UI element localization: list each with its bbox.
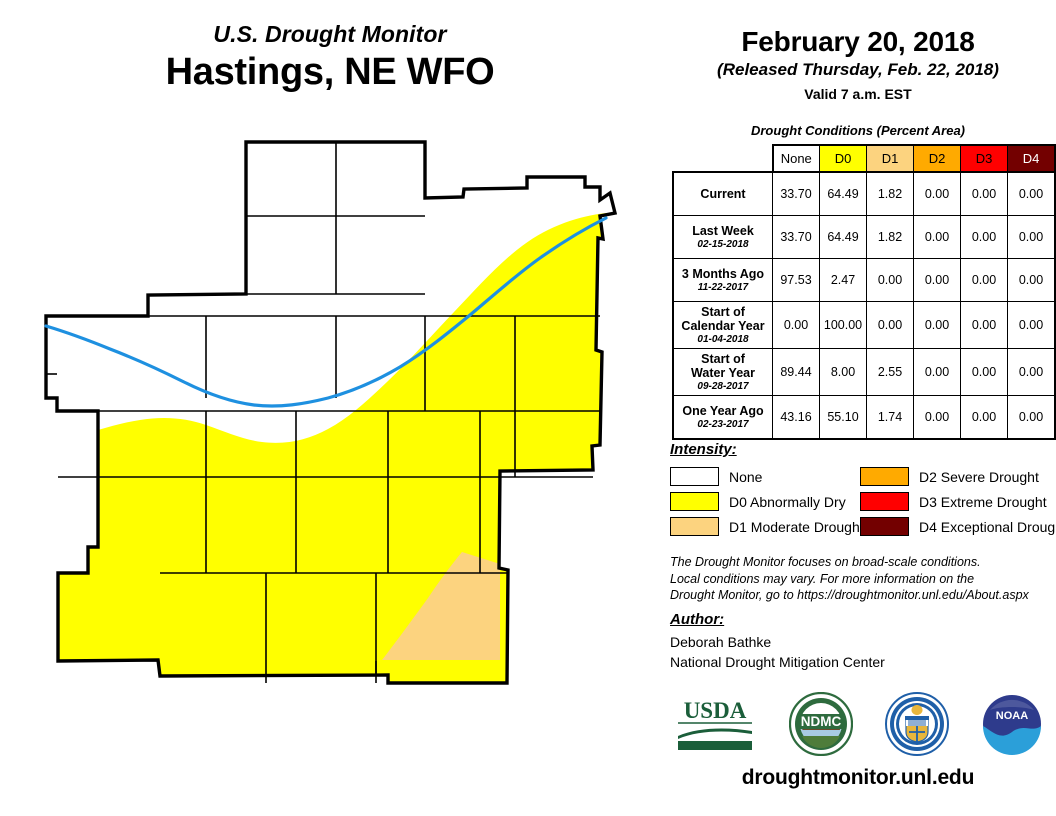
table-cell-d2: 0.00 xyxy=(914,216,961,259)
legend-item: D1 Moderate Drought xyxy=(670,514,860,539)
legend-column-right: D2 Severe DroughtD3 Extreme DroughtD4 Ex… xyxy=(860,464,1050,539)
table-cell-d0: 64.49 xyxy=(820,216,867,259)
table-cell-d1: 0.00 xyxy=(867,259,914,302)
table-row-label: One Year Ago02-23-2017 xyxy=(673,396,773,440)
table-cell-none: 43.16 xyxy=(773,396,820,440)
table-row: 3 Months Ago11-22-201797.532.470.000.000… xyxy=(673,259,1055,302)
table-cell-d0: 100.00 xyxy=(820,302,867,349)
table-header-row: NoneD0D1D2D3D4 xyxy=(673,145,1055,172)
site-url[interactable]: droughtmonitor.unl.edu xyxy=(660,766,1056,790)
table-cell-d1: 1.82 xyxy=(867,216,914,259)
table-col-header-none: None xyxy=(773,145,820,172)
table-cell-none: 97.53 xyxy=(773,259,820,302)
table-col-header-d1: D1 xyxy=(867,145,914,172)
table-cell-d4: 0.00 xyxy=(1008,349,1056,396)
ndmc-logo-text: NDMC xyxy=(801,714,842,729)
table-cell-d3: 0.00 xyxy=(961,172,1008,216)
table-cell-d4: 0.00 xyxy=(1008,259,1056,302)
legend-swatch-right-2 xyxy=(860,517,909,536)
table-cell-none: 33.70 xyxy=(773,172,820,216)
map-svg xyxy=(40,130,640,810)
legend-label: D2 Severe Drought xyxy=(919,469,1039,485)
legend-label: D1 Moderate Drought xyxy=(729,519,864,535)
disclaimer-line-3: Drought Monitor, go to https://droughtmo… xyxy=(670,587,1050,604)
table-cell-d0: 2.47 xyxy=(820,259,867,302)
legend-label: None xyxy=(729,469,762,485)
legend-swatch-left-1 xyxy=(670,492,719,511)
table-row: One Year Ago02-23-201743.1655.101.740.00… xyxy=(673,396,1055,440)
table-cell-d3: 0.00 xyxy=(961,349,1008,396)
table-cell-d4: 0.00 xyxy=(1008,302,1056,349)
table-cell-d1: 1.74 xyxy=(867,396,914,440)
table-cell-d2: 0.00 xyxy=(914,302,961,349)
author-name: Deborah Bathke xyxy=(670,632,1050,652)
legend-column-left: NoneD0 Abnormally DryD1 Moderate Drought xyxy=(670,464,860,539)
legend-label: D3 Extreme Drought xyxy=(919,494,1047,510)
table-cell-d1: 0.00 xyxy=(867,302,914,349)
author-organization: National Drought Mitigation Center xyxy=(670,652,1050,672)
table-cell-d2: 0.00 xyxy=(914,259,961,302)
legend-label: D0 Abnormally Dry xyxy=(729,494,846,510)
report-valid-time: Valid 7 a.m. EST xyxy=(660,86,1056,103)
usdc-seal-logo[interactable] xyxy=(885,692,949,756)
intensity-legend: Intensity: NoneD0 Abnormally DryD1 Moder… xyxy=(670,441,1050,539)
table-row-date: 02-23-2017 xyxy=(676,419,770,430)
legend-item: D2 Severe Drought xyxy=(860,464,1050,489)
legend-swatch-left-2 xyxy=(670,517,719,536)
table-row: Last Week02-15-201833.7064.491.820.000.0… xyxy=(673,216,1055,259)
table-cell-d2: 0.00 xyxy=(914,172,961,216)
table-row-date: 02-15-2018 xyxy=(676,239,770,250)
table-row-date: 09-28-2017 xyxy=(676,381,770,392)
table-cell-d3: 0.00 xyxy=(961,396,1008,440)
disclaimer-text: The Drought Monitor focuses on broad-sca… xyxy=(670,554,1050,604)
table-caption: Drought Conditions (Percent Area) xyxy=(660,123,1056,138)
noaa-logo-text: NOAA xyxy=(996,710,1028,722)
table-cell-d4: 0.00 xyxy=(1008,172,1056,216)
table-cell-d0: 8.00 xyxy=(820,349,867,396)
table-row: Start ofWater Year09-28-201789.448.002.5… xyxy=(673,349,1055,396)
table-row-date: 11-22-2017 xyxy=(676,282,770,293)
report-release-date: (Released Thursday, Feb. 22, 2018) xyxy=(660,60,1056,80)
table-cell-d2: 0.00 xyxy=(914,349,961,396)
partner-logos: USDA NDMC NOAA xyxy=(662,688,1054,760)
legend-item: None xyxy=(670,464,860,489)
table-cell-d4: 0.00 xyxy=(1008,216,1056,259)
table-row: Current33.7064.491.820.000.000.00 xyxy=(673,172,1055,216)
table-col-header-d0: D0 xyxy=(820,145,867,172)
usda-logo[interactable]: USDA xyxy=(672,696,758,752)
table-cell-none: 0.00 xyxy=(773,302,820,349)
legend-item: D3 Extreme Drought xyxy=(860,489,1050,514)
table-body: Current33.7064.491.820.000.000.00Last We… xyxy=(673,172,1055,439)
map-title-block: U.S. Drought Monitor Hastings, NE WFO xyxy=(0,22,660,95)
legend-label: D4 Exceptional Drought xyxy=(919,519,1056,535)
legend-swatch-right-1 xyxy=(860,492,909,511)
ndmc-logo[interactable]: NDMC xyxy=(789,692,853,756)
legend-item: D0 Abnormally Dry xyxy=(670,489,860,514)
table-col-header-d3: D3 xyxy=(961,145,1008,172)
table-row-label: Last Week02-15-2018 xyxy=(673,216,773,259)
table-row-label: Start ofWater Year09-28-2017 xyxy=(673,349,773,396)
page-subtitle: U.S. Drought Monitor xyxy=(0,22,660,47)
table-cell-none: 89.44 xyxy=(773,349,820,396)
page-title: Hastings, NE WFO xyxy=(0,51,660,95)
intensity-heading: Intensity: xyxy=(670,441,1050,458)
table-row-label: Start ofCalendar Year01-04-2018 xyxy=(673,302,773,349)
disclaimer-line-1: The Drought Monitor focuses on broad-sca… xyxy=(670,554,1050,571)
legend-item: D4 Exceptional Drought xyxy=(860,514,1050,539)
table-row-label: Current xyxy=(673,172,773,216)
table-cell-d0: 55.10 xyxy=(820,396,867,440)
table-row-label: 3 Months Ago11-22-2017 xyxy=(673,259,773,302)
table-cell-d0: 64.49 xyxy=(820,172,867,216)
report-date: February 20, 2018 xyxy=(660,26,1056,58)
table-cell-d3: 0.00 xyxy=(961,216,1008,259)
noaa-logo[interactable]: NOAA xyxy=(980,692,1044,756)
table-cell-d3: 0.00 xyxy=(961,302,1008,349)
table-col-header-d4: D4 xyxy=(1008,145,1056,172)
disclaimer-line-2: Local conditions may vary. For more info… xyxy=(670,571,1050,588)
table-cell-d1: 2.55 xyxy=(867,349,914,396)
table-cell-d1: 1.82 xyxy=(867,172,914,216)
table-cell-d2: 0.00 xyxy=(914,396,961,440)
table-row: Start ofCalendar Year01-04-20180.00100.0… xyxy=(673,302,1055,349)
drought-conditions-table[interactable]: NoneD0D1D2D3D4 Current33.7064.491.820.00… xyxy=(672,144,1056,440)
legend-swatch-left-0 xyxy=(670,467,719,486)
table-row-date: 01-04-2018 xyxy=(676,334,770,345)
legend-swatch-right-0 xyxy=(860,467,909,486)
usda-logo-text: USDA xyxy=(684,698,747,723)
table-cell-d3: 0.00 xyxy=(961,259,1008,302)
table-col-header-d2: D2 xyxy=(914,145,961,172)
table-cell-d4: 0.00 xyxy=(1008,396,1056,440)
header-corner-blank xyxy=(673,145,773,172)
author-heading: Author: xyxy=(670,611,1050,628)
table-cell-none: 33.70 xyxy=(773,216,820,259)
report-date-block: February 20, 2018 (Released Thursday, Fe… xyxy=(660,26,1056,102)
drought-map[interactable] xyxy=(40,130,640,810)
author-block: Author: Deborah Bathke National Drought … xyxy=(670,611,1050,673)
